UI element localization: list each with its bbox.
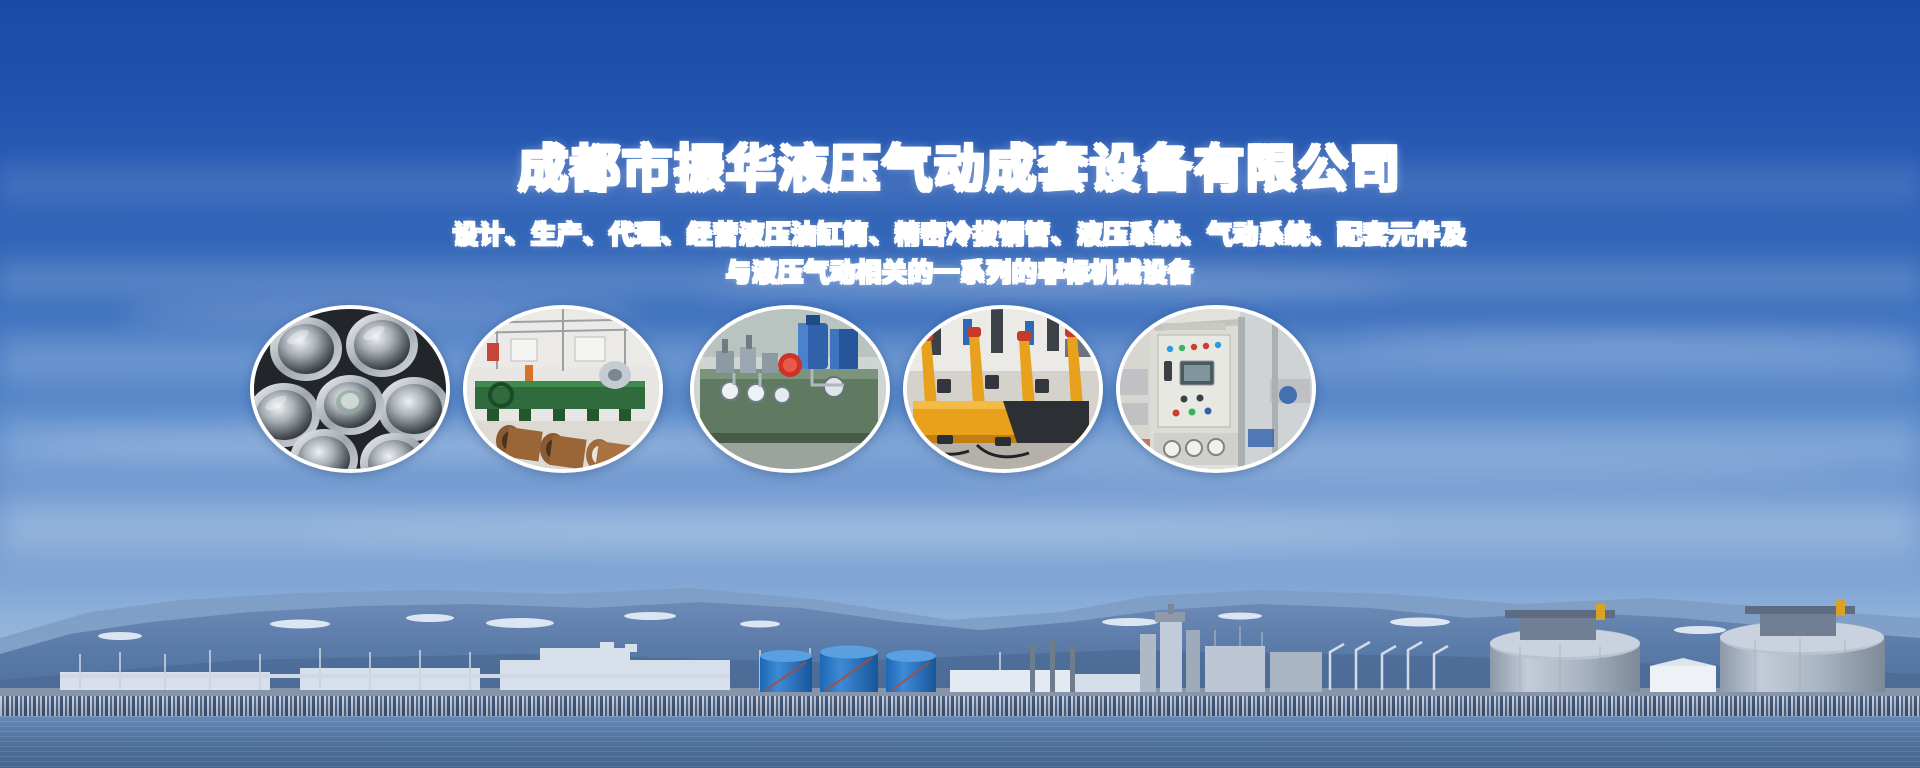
subtitle-line-1: 设计、生产、代理、经营液压油缸筒、精密冷拔钢管、液压系统、气动系统、配套元件及 (0, 217, 1920, 253)
thumbnail-plc-control-cabinet[interactable] (1116, 305, 1316, 473)
thumbnail-hydraulic-power-unit[interactable] (690, 305, 890, 473)
refinery-towers (1030, 604, 1322, 692)
control-cabinet (1150, 319, 1244, 465)
breakwater (0, 696, 1920, 718)
thumbnail-yellow-hydraulic-machines[interactable] (903, 305, 1103, 473)
hydraulic-power-unit-image (694, 309, 886, 469)
yellow-hydraulic-machines-image (907, 309, 1099, 469)
loading-arms (1330, 642, 1448, 690)
cloud-wisp (300, 520, 1400, 550)
banner-root: 成都市振华液压气动成套设备有限公司 设计、生产、代理、经营液压油缸筒、精密冷拔钢… (0, 0, 1920, 768)
page-title: 成都市振华液压气动成套设备有限公司 (0, 142, 1920, 197)
plc-control-cabinet-image (1120, 309, 1312, 469)
subtitle-line-2: 与液压气动相关的一系列的非标机械设备 (0, 255, 1920, 291)
thumbnail-cold-drawing-workshop[interactable] (463, 305, 663, 473)
sea-ripples (0, 716, 1920, 768)
cloud-wisp (1350, 330, 1910, 354)
cold-drawing-workshop-image (467, 309, 659, 469)
blue-storage-tanks (760, 646, 936, 693)
thumbnail-steel-cylinder-tubes[interactable] (250, 305, 450, 473)
steel-cylinder-tubes-image (254, 309, 446, 469)
headline-block: 成都市振华液压气动成套设备有限公司 设计、生产、代理、经营液压油缸筒、精密冷拔钢… (0, 0, 1920, 292)
gantry-cranes (1505, 600, 1855, 640)
